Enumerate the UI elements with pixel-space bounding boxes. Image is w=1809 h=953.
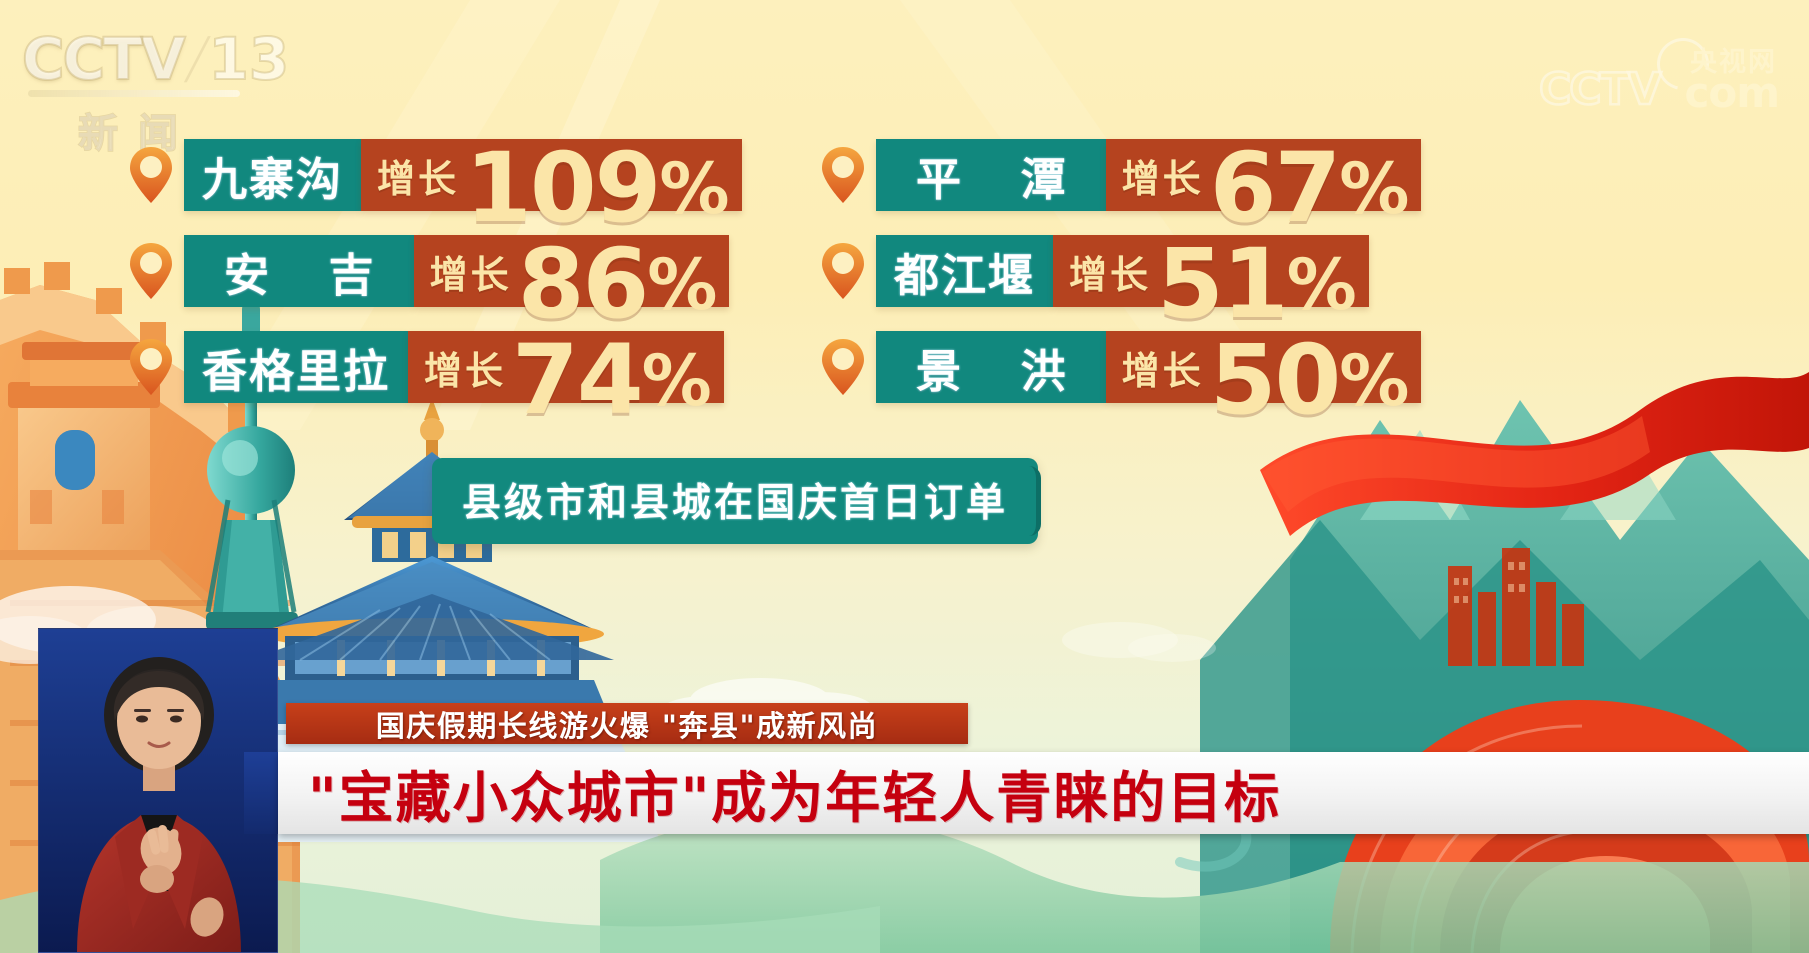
percent-sign: % [642, 340, 710, 422]
logo-mark-row: CCTV / 13 [22, 30, 272, 88]
statistics-panel: 九寨沟 增长 109 % 安 吉 增长 86 % [0, 138, 1809, 438]
stat-row: 平 潭 增长 67 % [820, 138, 1421, 212]
city-name-box: 香格里拉 [184, 331, 408, 403]
percent-sign: % [659, 148, 727, 230]
broadcast-frame: CCTV / 13 新闻 CCTV 央视网 com 九寨沟 增长 [0, 0, 1809, 953]
growth-number: 67 [1210, 147, 1340, 230]
percent-sign: % [1339, 148, 1407, 230]
channel-number: 13 [208, 30, 289, 88]
stat-row: 香格里拉 增长 74 % [128, 330, 742, 404]
cctv-wordmark: CCTV [22, 30, 184, 88]
percent-sign: % [1287, 244, 1355, 326]
growth-number: 74 [512, 339, 642, 422]
map-pin-icon [820, 241, 866, 301]
growth-label: 增长 [1069, 244, 1151, 299]
city-name-box: 九寨沟 [184, 139, 361, 211]
stat-row: 九寨沟 增长 109 % [128, 138, 742, 212]
growth-value-box: 增长 86 % [414, 235, 730, 307]
stat-row: 安 吉 增长 86 % [128, 234, 742, 308]
subheadline-text: 国庆假期长线游火爆 "奔县"成新风尚 [376, 703, 878, 745]
map-pin-icon [128, 241, 174, 301]
city-name-box: 都江堰 [876, 235, 1053, 307]
watermark-domain: com [1684, 72, 1779, 114]
percent-sign: % [647, 244, 715, 326]
map-pin-icon [820, 145, 866, 205]
growth-number: 51 [1157, 243, 1287, 326]
subheadline-bar: 国庆假期长线游火爆 "奔县"成新风尚 [286, 703, 968, 744]
growth-label: 增长 [377, 148, 459, 203]
stats-caption: 县级市和县城在国庆首日订单 [432, 458, 1038, 544]
watermark-brand: CCTV [1539, 68, 1660, 112]
stats-column-left: 九寨沟 增长 109 % 安 吉 增长 86 % [128, 138, 742, 426]
headline-left-cap [244, 752, 278, 834]
growth-value-box: 增长 67 % [1106, 139, 1422, 211]
map-pin-icon [128, 145, 174, 205]
sign-language-interpreter-window [38, 628, 278, 953]
cctv-com-watermark: CCTV 央视网 com [1539, 38, 1779, 116]
city-name-box: 景 洪 [876, 331, 1106, 403]
growth-label: 增长 [424, 340, 506, 395]
growth-label: 增长 [1122, 340, 1204, 395]
growth-label: 增长 [1122, 148, 1204, 203]
stat-row: 都江堰 增长 51 % [820, 234, 1421, 308]
percent-sign: % [1339, 340, 1407, 422]
growth-number: 109 [465, 147, 659, 230]
growth-label: 增长 [430, 244, 512, 299]
stats-column-right: 平 潭 增长 67 % 都江堰 增长 51 % [820, 138, 1421, 426]
growth-value-box: 增长 51 % [1053, 235, 1369, 307]
growth-number: 86 [518, 243, 648, 326]
growth-value-box: 增长 74 % [408, 331, 724, 403]
city-name-box: 安 吉 [184, 235, 414, 307]
growth-number: 50 [1210, 339, 1340, 422]
map-pin-icon [820, 337, 866, 397]
headline-bar: "宝藏小众城市"成为年轻人青睐的目标 [278, 752, 1809, 834]
cctv-channel-logo: CCTV / 13 新闻 [22, 30, 272, 155]
growth-value-box: 增长 50 % [1106, 331, 1422, 403]
headline-text: "宝藏小众城市"成为年轻人青睐的目标 [308, 753, 1281, 833]
map-pin-icon [128, 337, 174, 397]
growth-value-box: 增长 109 % [361, 139, 742, 211]
city-name-box: 平 潭 [876, 139, 1106, 211]
stat-row: 景 洪 增长 50 % [820, 330, 1421, 404]
